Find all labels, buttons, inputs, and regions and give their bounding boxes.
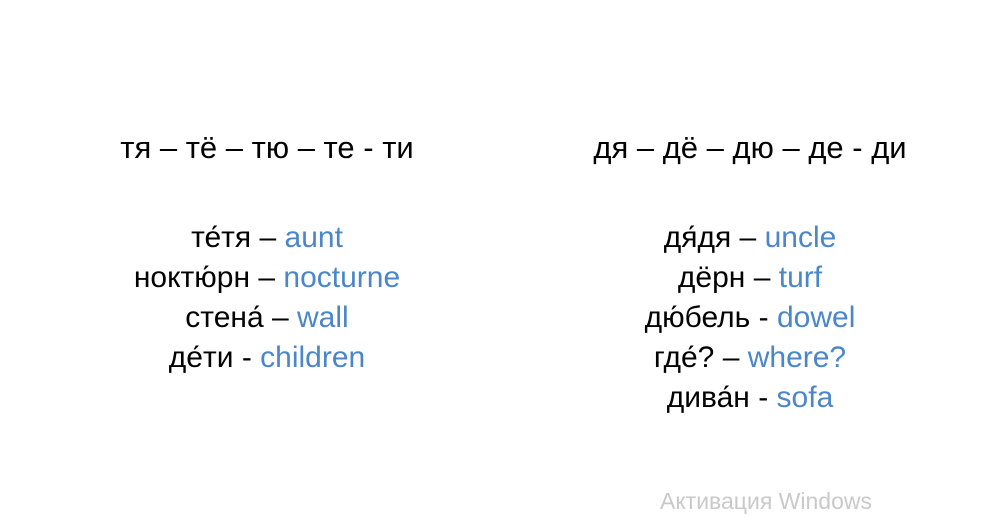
- word-gloss: sofa: [777, 381, 834, 414]
- word-separator: -: [758, 381, 768, 414]
- word-gloss: turf: [779, 261, 822, 294]
- word-term: те́тя: [191, 221, 251, 254]
- word-term: ноктю́рн: [134, 261, 250, 294]
- word-term: дёрн: [678, 261, 745, 294]
- word-term: дя́дя: [664, 221, 732, 254]
- syllable-header-left: тя – тё – тю – те - ти: [92, 128, 442, 168]
- word-row: де́ти - children: [92, 338, 442, 378]
- word-separator: -: [242, 341, 252, 374]
- word-separator: –: [258, 261, 275, 294]
- word-row: стена́ – wall: [92, 298, 442, 338]
- word-separator: –: [723, 341, 740, 374]
- word-term: де́ти: [169, 341, 234, 374]
- word-row: дя́дя – uncle: [575, 218, 925, 258]
- word-term: где́?: [654, 341, 714, 374]
- word-separator: –: [754, 261, 771, 294]
- word-separator: –: [740, 221, 757, 254]
- word-separator: –: [260, 221, 277, 254]
- syllable-header-right: дя – дё – дю – де - ди: [575, 128, 925, 168]
- word-term: дива́н: [667, 381, 750, 414]
- word-gloss: children: [260, 341, 365, 374]
- word-row: где́? – where?: [575, 338, 925, 378]
- word-term: стена́: [185, 301, 263, 334]
- word-row: те́тя – aunt: [92, 218, 442, 258]
- word-gloss: uncle: [765, 221, 837, 254]
- word-separator: -: [759, 301, 769, 334]
- slide-canvas: тя – тё – тю – те - ти те́тя – aunt нокт…: [0, 0, 993, 507]
- windows-activation-watermark: Активация Windows: [660, 486, 980, 516]
- word-gloss: wall: [297, 301, 349, 334]
- word-list-left: те́тя – aunt ноктю́рн – nocturne стена́ …: [92, 218, 442, 378]
- word-row: дёрн – turf: [575, 258, 925, 298]
- word-list-right: дя́дя – uncle дёрн – turf дю́бель - dowe…: [575, 218, 925, 418]
- word-row: дю́бель - dowel: [575, 298, 925, 338]
- word-term: дю́бель: [645, 301, 751, 334]
- syllable-columns: тя – тё – тю – те - ти те́тя – aunt нокт…: [0, 0, 993, 507]
- word-gloss: aunt: [285, 221, 343, 254]
- word-row: дива́н - sofa: [575, 378, 925, 418]
- word-row: ноктю́рн – nocturne: [92, 258, 442, 298]
- word-separator: –: [272, 301, 289, 334]
- word-gloss: where?: [748, 341, 846, 374]
- word-gloss: dowel: [777, 301, 855, 334]
- word-gloss: nocturne: [283, 261, 400, 294]
